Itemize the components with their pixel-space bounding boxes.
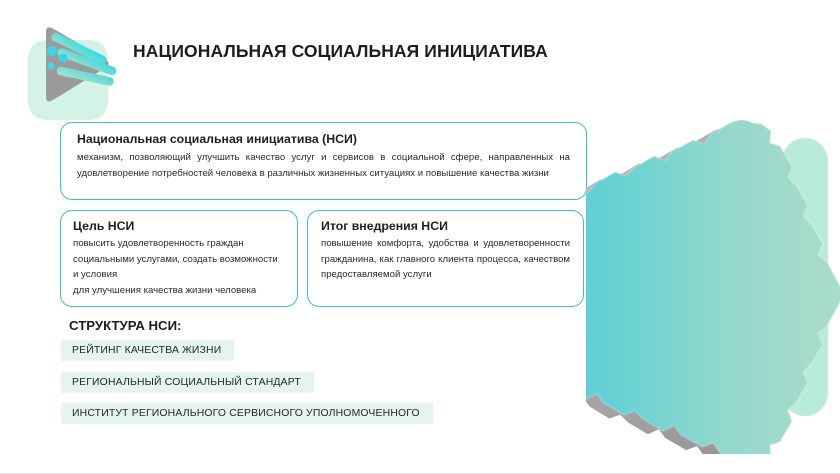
card-nsi-heading: Национальная социальная инициатива (НСИ) — [77, 132, 570, 147]
card-result-heading: Итог внедрения НСИ — [321, 219, 570, 234]
structure-item-standard[interactable]: РЕГИОНАЛЬНЫЙ СОЦИАЛЬНЫЙ СТАНДАРТ — [61, 372, 314, 393]
structure-item-institute[interactable]: ИНСТИТУТ РЕГИОНАЛЬНОГО СЕРВИСНОГО УПОЛНО… — [61, 403, 433, 424]
nsi-logo — [18, 14, 130, 126]
card-goal-heading: Цель НСИ — [73, 219, 285, 234]
triangular-gear-illustration — [586, 118, 840, 454]
card-goal: Цель НСИ повысить удовлетворенность граж… — [60, 210, 298, 307]
structure-title: СТРУКТУРА НСИ: — [69, 318, 181, 333]
card-nsi: Национальная социальная инициатива (НСИ)… — [60, 122, 587, 200]
card-result-body: повышение комфорта, удобства и удовлетво… — [321, 236, 570, 283]
page-title: НАЦИОНАЛЬНАЯ СОЦИАЛЬНАЯ ИНИЦИАТИВА — [133, 41, 548, 62]
card-result: Итог внедрения НСИ повышение комфорта, у… — [307, 210, 584, 307]
card-goal-body-2: для улучшения качества жизни человека — [73, 283, 285, 299]
card-nsi-body: механизм, позволяющий улучшить качество … — [77, 150, 570, 181]
card-goal-body: повысить удовлетворенность граждан социа… — [73, 236, 285, 283]
structure-item-rating[interactable]: РЕЙТИНГ КАЧЕСТВА ЖИЗНИ — [61, 340, 234, 361]
slide-canvas: НАЦИОНАЛЬНАЯ СОЦИАЛЬНАЯ ИНИЦИАТИВА Нацио… — [0, 0, 840, 474]
